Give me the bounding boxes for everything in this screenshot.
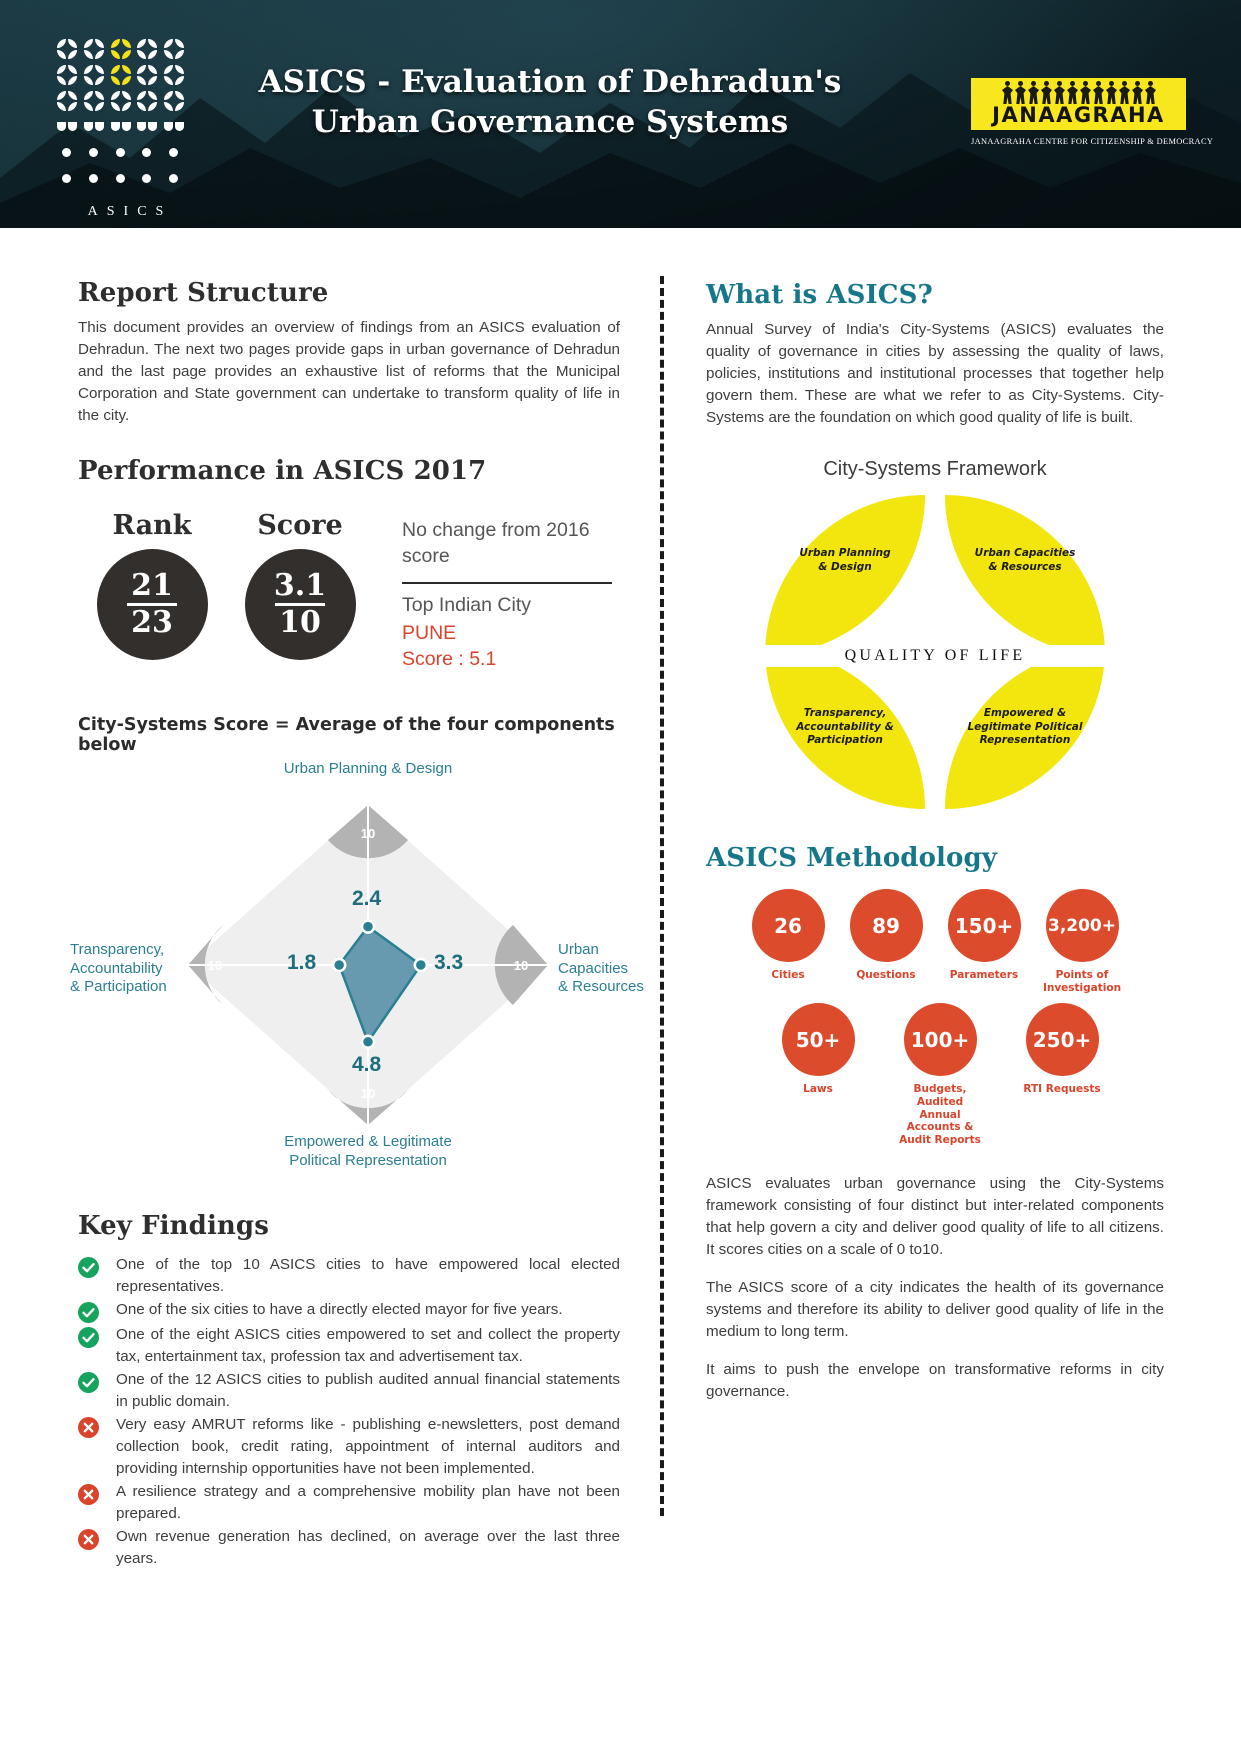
page-body: Report Structure This document provides … [0, 228, 1241, 1571]
stat-parameters-value: 150+ [948, 889, 1021, 962]
radar-axis-label-bottom-l2: Political Representation [238, 1152, 498, 1171]
logo-petal-cell-highlight [110, 38, 132, 60]
performance-side-notes: No change from 2016 score Top Indian Cit… [402, 510, 612, 670]
petal-label-l2: Accountability & [796, 721, 894, 733]
what-is-asics-paragraph: Annual Survey of India's City-Systems (A… [706, 319, 1164, 428]
list-item-text: One of the six cities to have a directly… [116, 1299, 563, 1321]
stat-rti-value: 250+ [1026, 1003, 1099, 1076]
radar-axis-label-right-l1: Urban [558, 941, 668, 960]
list-item: Own revenue generation has declined, on … [78, 1526, 620, 1570]
logo-half-petal-cell [163, 116, 185, 138]
check-circle-icon [78, 1327, 99, 1348]
radar-tick-label-bottom: 10 [361, 1086, 375, 1101]
stat-rti-requests: 250+ RTI Requests [1019, 1003, 1105, 1147]
radar-axis-label-right-l2: Capacities [558, 960, 668, 979]
report-structure-paragraph: This document provides an overview of fi… [78, 317, 620, 426]
asics-logo-wordmark: ASICS [56, 204, 196, 220]
rank-value: 21 [131, 571, 173, 602]
key-findings-heading: Key Findings [78, 1211, 620, 1241]
radar-point-left [333, 959, 345, 971]
quality-of-life-center-label: QUALITY OF LIFE [740, 645, 1130, 667]
stat-cities-caption: Cities [745, 969, 831, 982]
score-circle: 3.1 10 [245, 549, 356, 660]
stat-questions-caption: Questions [843, 969, 929, 982]
stat-points-of-investigation: 3,200+ Points of Investigation [1039, 889, 1125, 995]
stat-budgets-caption: Budgets, Audited Annual Accounts & Audit… [897, 1083, 983, 1147]
asics-logo-petal-grid [56, 38, 186, 190]
radar-value-top: 2.4 [352, 887, 381, 911]
radar-axis-label-left-l1: Transparency, [70, 941, 190, 960]
petal-label-l1: Empowered & [984, 707, 1066, 719]
petal-label-l2: Legitimate Political [967, 721, 1082, 733]
logo-half-petal-cell [110, 116, 132, 138]
stat-points-value: 3,200+ [1046, 889, 1119, 962]
list-item-text: One of the top 10 ASICS cities to have e… [116, 1254, 620, 1298]
list-item-text: Own revenue generation has declined, on … [116, 1526, 620, 1570]
radar-axis-label-top: Urban Planning & Design [263, 760, 473, 779]
stat-cities: 26 Cities [745, 889, 831, 995]
logo-dot-cell [163, 142, 185, 164]
left-column: Report Structure This document provides … [0, 258, 660, 1571]
petal-empowered-representation: Empowered & Legitimate Political Represe… [945, 649, 1105, 809]
cross-circle-icon [78, 1417, 99, 1438]
rank-circle: 21 23 [97, 549, 208, 660]
page-title: ASICS - Evaluation of Dehradun's Urban G… [230, 62, 870, 143]
right-column: What is ASICS? Annual Survey of India's … [664, 258, 1224, 1571]
janaagraha-wordmark: JANAAGRAHA [992, 105, 1165, 126]
top-city-score: Score : 5.1 [402, 648, 612, 671]
logo-dot-cell [83, 142, 105, 164]
radar-axis-label-bottom: Empowered & Legitimate Political Represe… [238, 1133, 498, 1171]
report-structure-heading: Report Structure [78, 278, 620, 308]
stat-rti-caption: RTI Requests [1019, 1083, 1105, 1096]
framework-title: City-Systems Framework [706, 458, 1164, 481]
methodology-row-2: 50+ Laws 100+ Budgets, Audited Annual Ac… [706, 1003, 1164, 1147]
radar-point-top [362, 921, 374, 933]
list-item: Very easy AMRUT reforms like - publishin… [78, 1414, 620, 1480]
radar-chart-title: City-Systems Score = Average of the four… [78, 715, 620, 755]
petal-urban-planning-label: Urban Planning & Design [785, 547, 905, 573]
stat-budgets-value: 100+ [904, 1003, 977, 1076]
list-item-text: One of the 12 ASICS cities to publish au… [116, 1369, 620, 1413]
petal-label-l1: Transparency, [804, 707, 887, 719]
radar-axis-label-right: Urban Capacities & Resources [558, 941, 668, 997]
logo-half-petal-cell [56, 116, 78, 138]
radar-point-bottom [362, 1036, 374, 1048]
logo-petal-cell [83, 38, 105, 60]
logo-petal-cell [136, 38, 158, 60]
logo-petal-cell [83, 64, 105, 86]
logo-dot-cell [56, 168, 78, 190]
check-circle-icon [78, 1372, 99, 1393]
petal-empowered-representation-label: Empowered & Legitimate Political Represe… [965, 707, 1085, 746]
radar-tick-label-left: 10 [208, 958, 222, 973]
performance-kpis: Rank 21 23 Score 3.1 10 [78, 510, 620, 670]
stat-questions: 89 Questions [843, 889, 929, 995]
methodology-notes: ASICS evaluates urban governance using t… [706, 1173, 1164, 1403]
list-item: One of the top 10 ASICS cities to have e… [78, 1254, 620, 1298]
petal-transparency: Transparency, Accountability & Participa… [765, 649, 925, 809]
cross-circle-icon [78, 1484, 99, 1505]
petal-transparency-label: Transparency, Accountability & Participa… [785, 707, 905, 746]
methodology-note-2: The ASICS score of a city indicates the … [706, 1277, 1164, 1343]
logo-half-petal-cell [83, 116, 105, 138]
logo-petal-cell [163, 90, 185, 112]
stat-parameters-caption: Parameters [941, 969, 1027, 982]
methodology-note-1: ASICS evaluates urban governance using t… [706, 1173, 1164, 1261]
radar-value-right: 3.3 [434, 951, 463, 975]
radar-value-bottom: 4.8 [352, 1053, 381, 1077]
logo-dot-cell [136, 142, 158, 164]
stat-laws: 50+ Laws [775, 1003, 861, 1147]
petal-label-l2: & Resources [988, 561, 1061, 573]
list-item: A resilience strategy and a comprehensiv… [78, 1481, 620, 1525]
methodology-row-1: 26 Cities 89 Questions 150+ Parameters 3… [706, 889, 1164, 995]
stat-laws-caption: Laws [775, 1083, 861, 1096]
stat-cities-value: 26 [752, 889, 825, 962]
list-item-text: A resilience strategy and a comprehensiv… [116, 1481, 620, 1525]
radar-axis-label-left-l3: & Participation [70, 978, 190, 997]
radar-chart: 10 10 10 10 Urban Planning & Design Urba… [78, 765, 658, 1165]
city-systems-framework-diagram: Urban Planning & Design Urban Capacities… [740, 487, 1130, 817]
radar-axis-label-left-l2: Accountability [70, 960, 190, 979]
logo-petal-cell [56, 90, 78, 112]
list-item: One of the 12 ASICS cities to publish au… [78, 1369, 620, 1413]
stat-questions-value: 89 [850, 889, 923, 962]
radar-value-left: 1.8 [287, 951, 316, 975]
radar-point-right [415, 959, 427, 971]
petal-urban-capacities-label: Urban Capacities & Resources [965, 547, 1085, 573]
radar-axis-label-left: Transparency, Accountability & Participa… [70, 941, 190, 997]
stat-laws-value: 50+ [782, 1003, 855, 1076]
logo-half-petal-cell [136, 116, 158, 138]
logo-petal-cell [56, 38, 78, 60]
logo-petal-cell [136, 90, 158, 112]
logo-dot-cell [56, 142, 78, 164]
check-circle-icon [78, 1257, 99, 1278]
stat-points-caption: Points of Investigation [1039, 969, 1125, 995]
logo-dot-cell [136, 168, 158, 190]
petal-label-l1: Urban Capacities [975, 547, 1076, 559]
cross-circle-icon [78, 1529, 99, 1550]
check-circle-icon [78, 1302, 99, 1323]
score-label: Score [226, 510, 374, 541]
what-is-asics-heading: What is ASICS? [706, 280, 1164, 310]
radar-tick-label-top: 10 [361, 826, 375, 841]
score-kpi: Score 3.1 10 [226, 510, 374, 660]
janaagraha-logo: JANAAGRAHA JANAAGRAHA CENTRE FOR CITIZEN… [971, 78, 1186, 146]
rank-total: 23 [131, 608, 173, 639]
asics-logo: ASICS [56, 38, 196, 228]
methodology-heading: ASICS Methodology [706, 843, 1164, 873]
petal-label-l1: Urban Planning [799, 547, 890, 559]
radar-axis-label-right-l3: & Resources [558, 978, 668, 997]
methodology-note-3: It aims to push the envelope on transfor… [706, 1359, 1164, 1403]
stat-parameters: 150+ Parameters [941, 889, 1027, 995]
logo-petal-cell [110, 90, 132, 112]
rank-label: Rank [78, 510, 226, 541]
logo-petal-cell [163, 64, 185, 86]
logo-petal-cell [136, 64, 158, 86]
logo-dot-cell [110, 168, 132, 190]
logo-dot-cell [110, 142, 132, 164]
janaagraha-logo-box: JANAAGRAHA [971, 78, 1186, 130]
key-findings-list: One of the top 10 ASICS cities to have e… [78, 1254, 620, 1570]
logo-petal-cell [163, 38, 185, 60]
petal-urban-capacities: Urban Capacities & Resources [945, 495, 1105, 655]
stat-budgets: 100+ Budgets, Audited Annual Accounts & … [897, 1003, 983, 1147]
rank-kpi: Rank 21 23 [78, 510, 226, 660]
petal-urban-planning: Urban Planning & Design [765, 495, 925, 655]
list-item: One of the eight ASICS cities empowered … [78, 1324, 620, 1368]
petal-label-l3: Representation [980, 734, 1071, 746]
methodology-stats: 26 Cities 89 Questions 150+ Parameters 3… [706, 889, 1164, 1147]
poster-page: ASICS ASICS - Evaluation of Dehradun's U… [0, 0, 1241, 1754]
page-header: ASICS ASICS - Evaluation of Dehradun's U… [0, 0, 1241, 228]
performance-heading: Performance in ASICS 2017 [78, 456, 620, 486]
side-divider [402, 582, 612, 584]
radar-axis-label-bottom-l1: Empowered & Legitimate [238, 1133, 498, 1152]
page-title-line-2: Urban Governance Systems [230, 102, 870, 142]
logo-petal-cell [56, 64, 78, 86]
radar-tick-label-right: 10 [514, 958, 528, 973]
petal-label-l2: & Design [818, 561, 872, 573]
list-item-text: One of the eight ASICS cities empowered … [116, 1324, 620, 1368]
top-city-label: Top Indian City [402, 594, 612, 617]
petal-label-l3: Participation [807, 734, 883, 746]
logo-petal-cell-highlight [110, 64, 132, 86]
janaagraha-tagline: JANAAGRAHA CENTRE FOR CITIZENSHIP & DEMO… [971, 137, 1186, 146]
score-change-note: No change from 2016 score [402, 518, 612, 569]
top-city-name: PUNE [402, 622, 612, 645]
list-item-text: Very easy AMRUT reforms like - publishin… [116, 1414, 620, 1480]
score-total: 10 [279, 608, 321, 639]
logo-dot-cell [163, 168, 185, 190]
score-value: 3.1 [274, 571, 326, 602]
list-item: One of the six cities to have a directly… [78, 1299, 620, 1323]
logo-dot-cell [83, 168, 105, 190]
logo-petal-cell [83, 90, 105, 112]
page-title-line-1: ASICS - Evaluation of Dehradun's [230, 62, 870, 102]
